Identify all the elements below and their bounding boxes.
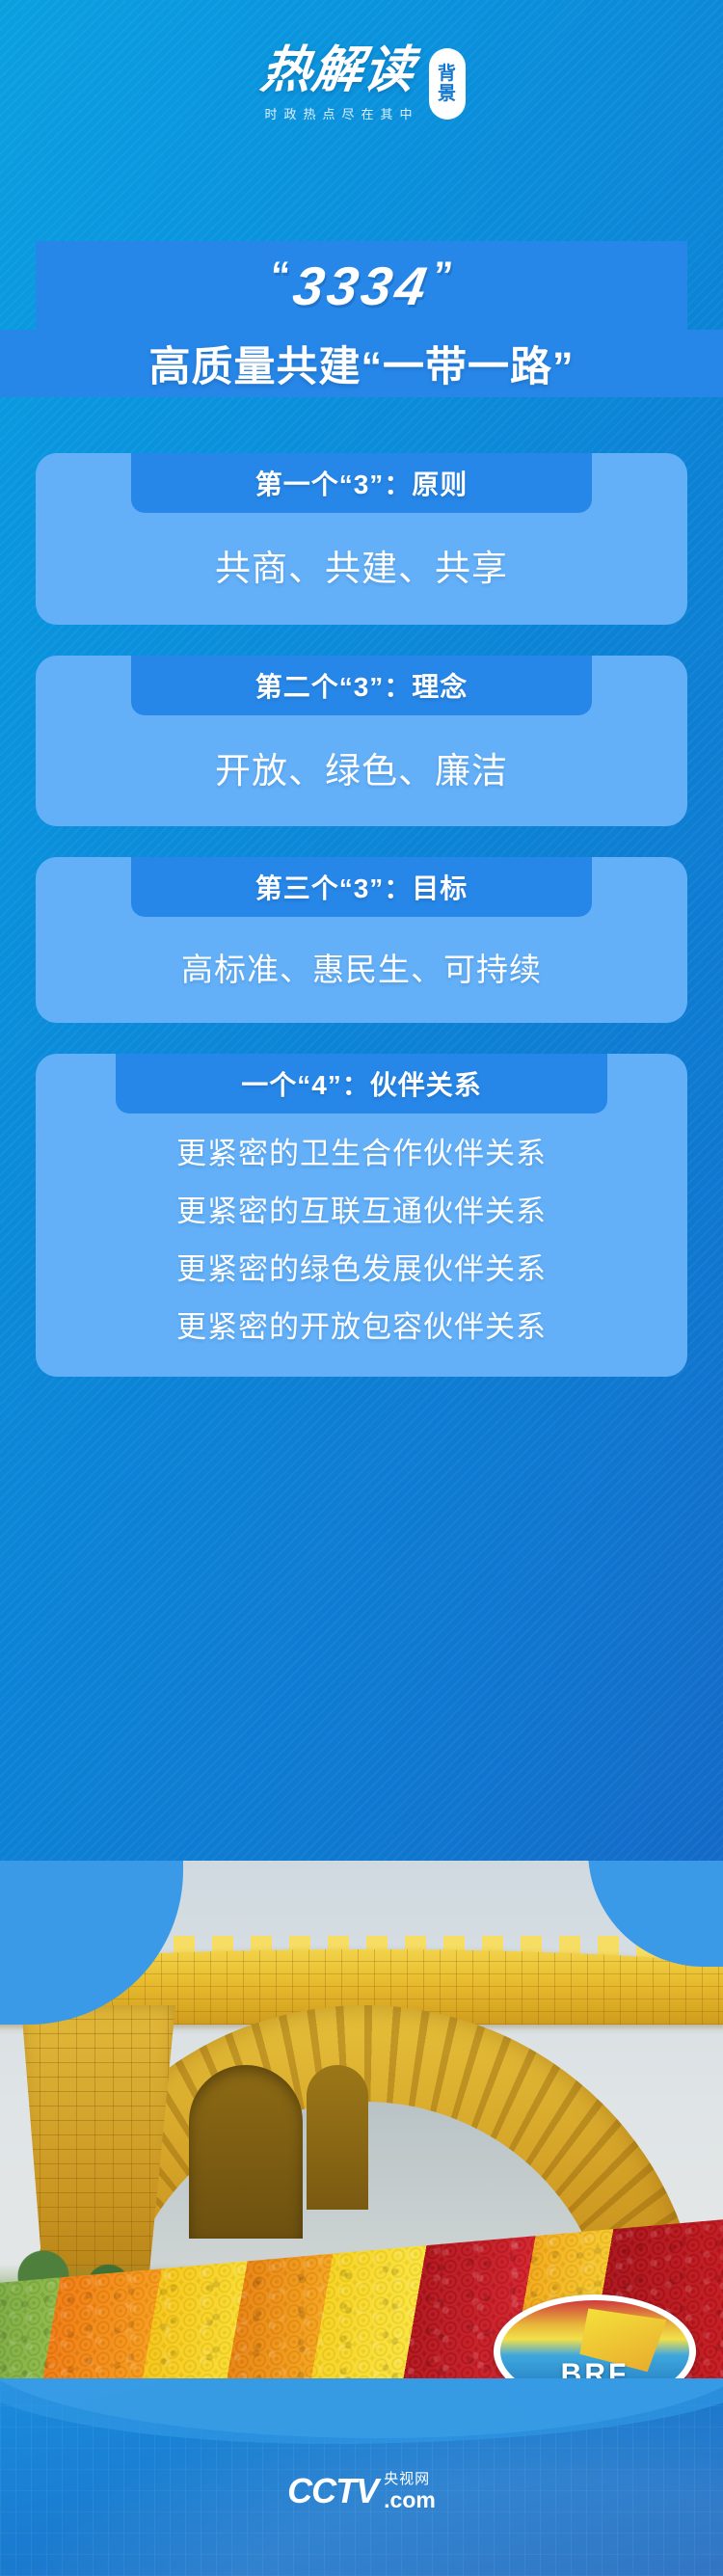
- card-partnership-list: 更紧密的卫生合作伙伴关系 更紧密的互联互通伙伴关系 更紧密的绿色发展伙伴关系 更…: [36, 1114, 687, 1352]
- title-number-bar: “ 3334 ”: [36, 241, 687, 330]
- card-principles-head: 第一个“3”：原则: [131, 453, 592, 513]
- cctv-domain: .com: [384, 2489, 436, 2511]
- badge-char-2: 景: [438, 84, 456, 104]
- brand-subtitle: 时政热点尽在其中: [257, 104, 418, 122]
- cctv-logo: CCTV 央视网 .com: [0, 2471, 723, 2511]
- cctv-wordmark: CCTV: [287, 2471, 378, 2511]
- title-number: 3334: [289, 255, 435, 317]
- badge-char-1: 背: [438, 64, 456, 84]
- card-principles: 第一个“3”：原则 共商、共建、共享: [36, 453, 687, 625]
- footer-wave-dark: [0, 2378, 723, 2444]
- brand-header: 热解读 时政热点尽在其中 背 景: [0, 44, 723, 160]
- cards-container: 第一个“3”：原则 共商、共建、共享 第二个“3”：理念 开放、绿色、廉洁 第三…: [0, 453, 723, 1408]
- brand-logo-text: 热解读: [258, 44, 418, 97]
- footer: CCTV 央视网 .com: [0, 2378, 723, 2576]
- card-goals-head: 第三个“3”：目标: [131, 857, 592, 917]
- brand-inner: 热解读 时政热点尽在其中 背 景: [257, 44, 465, 122]
- main-title: “ 3334 ” 高质量共建“一带一路”: [0, 241, 723, 397]
- card-concepts-head: 第二个“3”：理念: [131, 656, 592, 715]
- card-principles-body: 共商、共建、共享: [36, 513, 687, 600]
- card-partnership: 一个“4”：伙伴关系 更紧密的卫生合作伙伴关系 更紧密的互联互通伙伴关系 更紧密…: [36, 1054, 687, 1377]
- cctv-side-block: 央视网 .com: [384, 2472, 436, 2511]
- quote-open: “: [269, 255, 295, 298]
- card-goals-body: 高标准、惠民生、可持续: [36, 917, 687, 998]
- list-item: 更紧密的绿色发展伙伴关系: [55, 1254, 668, 1284]
- card-goals: 第三个“3”：目标 高标准、惠民生、可持续: [36, 857, 687, 1023]
- brand-text-block: 热解读 时政热点尽在其中: [257, 44, 418, 122]
- title-subheading: 高质量共建“一带一路”: [0, 330, 723, 397]
- photo-bridge-flowerbed: BRF: [0, 1861, 723, 2458]
- infographic-page: 热解读 时政热点尽在其中 背 景 “ 3334 ” 高质量共建“一带一路” 第一…: [0, 0, 723, 2576]
- list-item: 更紧密的互联互通伙伴关系: [55, 1196, 668, 1226]
- quote-close: ”: [431, 255, 457, 298]
- background-badge: 背 景: [429, 48, 466, 120]
- card-concepts: 第二个“3”：理念 开放、绿色、廉洁: [36, 656, 687, 827]
- cctv-chinese-name: 央视网: [384, 2472, 436, 2486]
- list-item: 更紧密的卫生合作伙伴关系: [55, 1139, 668, 1168]
- card-concepts-body: 开放、绿色、廉洁: [36, 715, 687, 802]
- card-partnership-head: 一个“4”：伙伴关系: [116, 1054, 607, 1114]
- list-item: 更紧密的开放包容伙伴关系: [55, 1312, 668, 1342]
- title-number-group: “ 3334 ”: [264, 255, 460, 317]
